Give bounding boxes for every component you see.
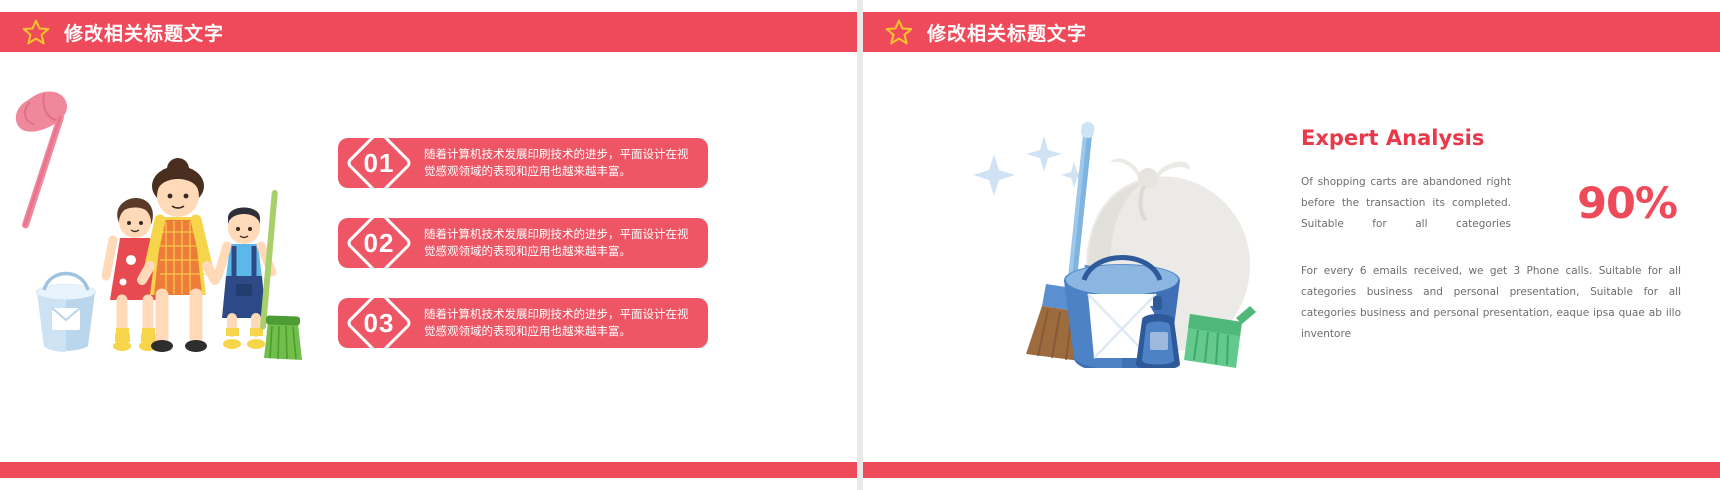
row-number: 01 — [348, 148, 410, 179]
analysis-paragraph: For every 6 emails received, we get 3 Ph… — [1301, 261, 1681, 345]
row-text: 随着计算机技术发展印刷技术的进步，平面设计在视觉感观领域的表现和应用也越来越丰富… — [424, 226, 696, 260]
broom-icon — [260, 190, 302, 360]
analysis-blurb: Of shopping carts are abandoned right be… — [1301, 172, 1511, 235]
slide-deck: 修改相关标题文字 — [0, 0, 1720, 490]
analysis-percent: 90% — [1577, 179, 1683, 229]
slide-right-title: 修改相关标题文字 — [927, 19, 1087, 46]
row-text: 随着计算机技术发展印刷技术的进步，平面设计在视觉感观领域的表现和应用也越来越丰富… — [424, 146, 696, 180]
star-icon — [22, 18, 50, 46]
slide-right: 修改相关标题文字 — [860, 0, 1720, 490]
sparkle-icon — [973, 136, 1087, 196]
numbered-row[interactable]: 02 随着计算机技术发展印刷技术的进步，平面设计在视觉感观领域的表现和应用也越来… — [338, 218, 708, 268]
duster-icon — [16, 91, 67, 229]
analysis-stat-row: Of shopping carts are abandoned right be… — [1301, 172, 1683, 235]
slide-left-titlebar: 修改相关标题文字 — [0, 12, 857, 52]
expert-analysis-block: Expert Analysis Of shopping carts are ab… — [1301, 126, 1683, 345]
row-text: 随着计算机技术发展印刷技术的进步，平面设计在视觉感观领域的表现和应用也越来越丰富… — [424, 306, 696, 340]
slide-right-titlebar: 修改相关标题文字 — [863, 12, 1720, 52]
slide-right-bottombar — [863, 462, 1720, 478]
star-icon — [885, 18, 913, 46]
slide-left: 修改相关标题文字 — [0, 0, 860, 490]
cleaning-supplies-illustration — [898, 68, 1298, 368]
slide-left-title: 修改相关标题文字 — [64, 19, 224, 46]
numbered-row[interactable]: 03 随着计算机技术发展印刷技术的进步，平面设计在视觉感观领域的表现和应用也越来… — [338, 298, 708, 348]
slide-left-bottombar — [0, 462, 857, 478]
row-number: 03 — [348, 308, 410, 339]
numbered-rows-list: 01 随着计算机技术发展印刷技术的进步，平面设计在视觉感观领域的表现和应用也越来… — [338, 138, 708, 348]
bucket-icon — [36, 274, 96, 353]
numbered-row[interactable]: 01 随着计算机技术发展印刷技术的进步，平面设计在视觉感观领域的表现和应用也越来… — [338, 138, 708, 188]
row-number: 02 — [348, 228, 410, 259]
analysis-heading: Expert Analysis — [1301, 126, 1683, 150]
family-cleaning-illustration — [10, 70, 330, 370]
